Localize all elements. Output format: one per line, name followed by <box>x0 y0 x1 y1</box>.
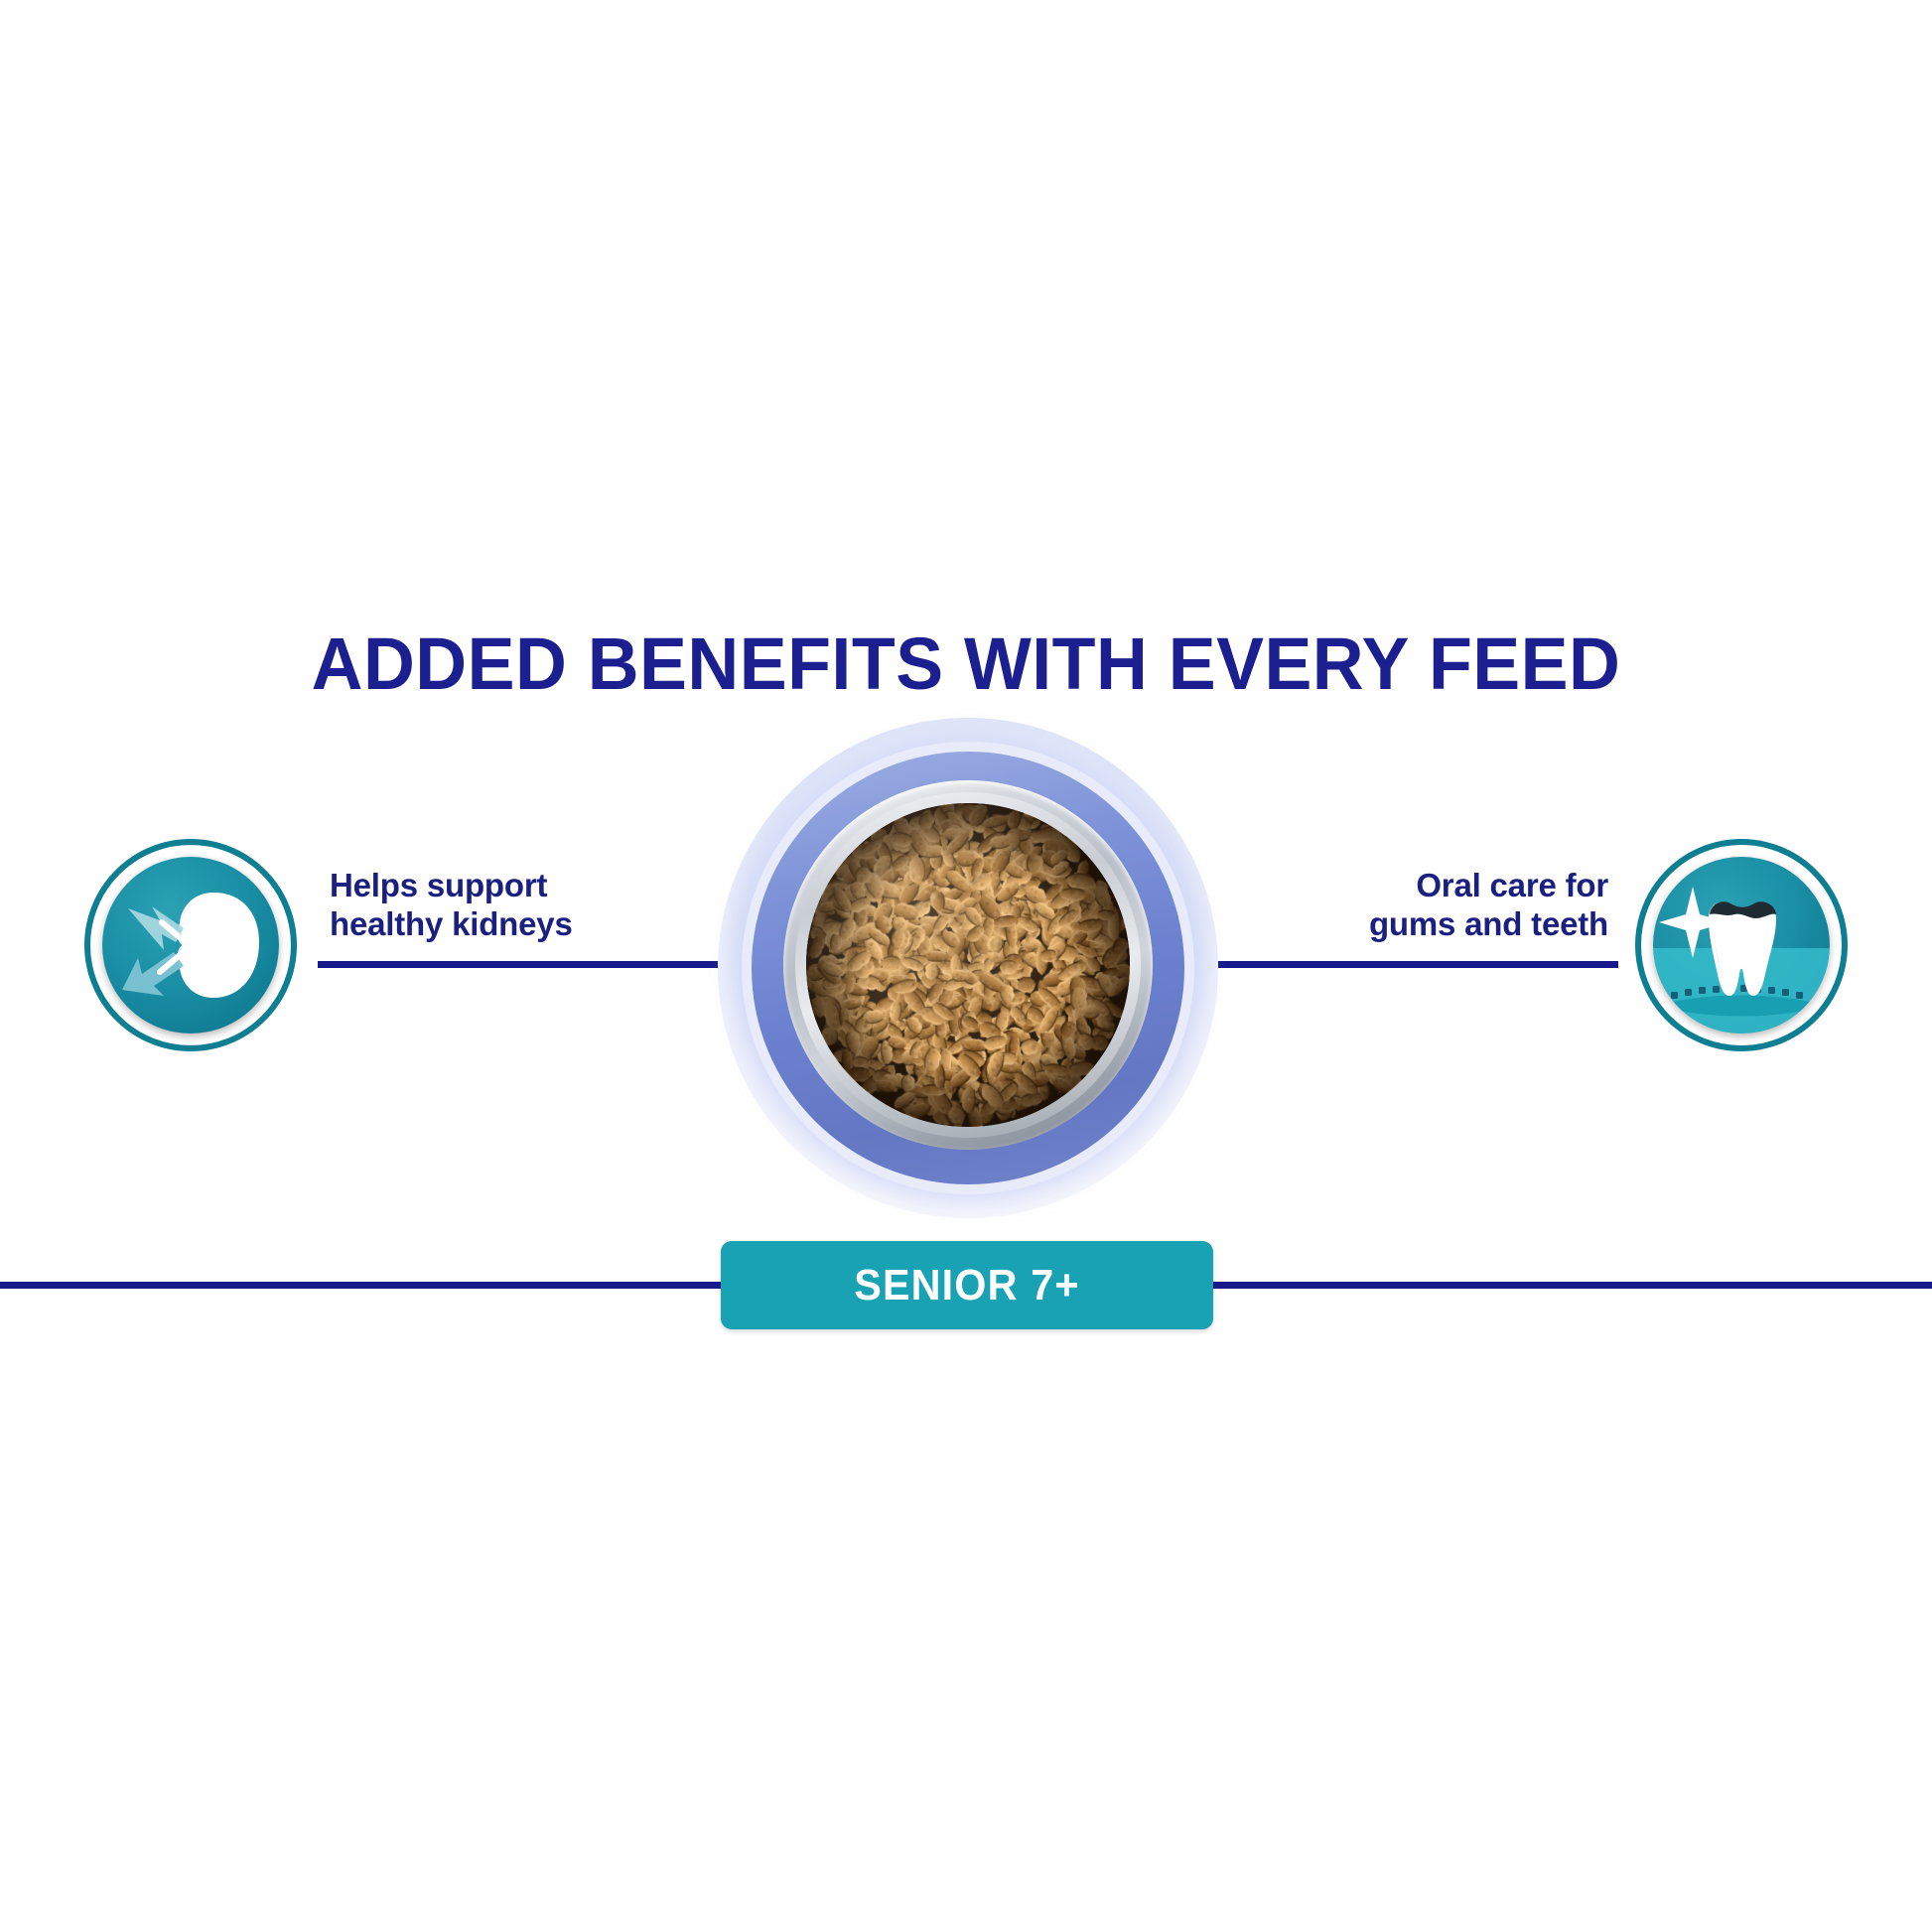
benefit-label-oral-care: Oral care for gums and teeth <box>1191 867 1608 944</box>
tooth-icon <box>1653 857 1830 1034</box>
kibble-bowl-image <box>718 718 1218 1218</box>
benefit-label-kidney: Helps support healthy kidneys <box>330 867 747 944</box>
bowl-inner-edge <box>795 792 1141 1138</box>
connector-line-left <box>318 961 718 968</box>
kidney-icon <box>102 857 279 1034</box>
connector-line-right <box>1218 961 1618 968</box>
senior-badge: SENIOR 7+ <box>721 1241 1213 1329</box>
bowl-steel-rim <box>783 780 1153 1150</box>
page-title: ADDED BENEFITS WITH EVERY FEED <box>29 627 1903 701</box>
benefit-icon-oral-care <box>1635 839 1848 1051</box>
benefit-icon-kidney <box>84 839 297 1051</box>
senior-badge-label: SENIOR 7+ <box>854 1261 1079 1311</box>
kibble-fill <box>806 803 1130 1127</box>
